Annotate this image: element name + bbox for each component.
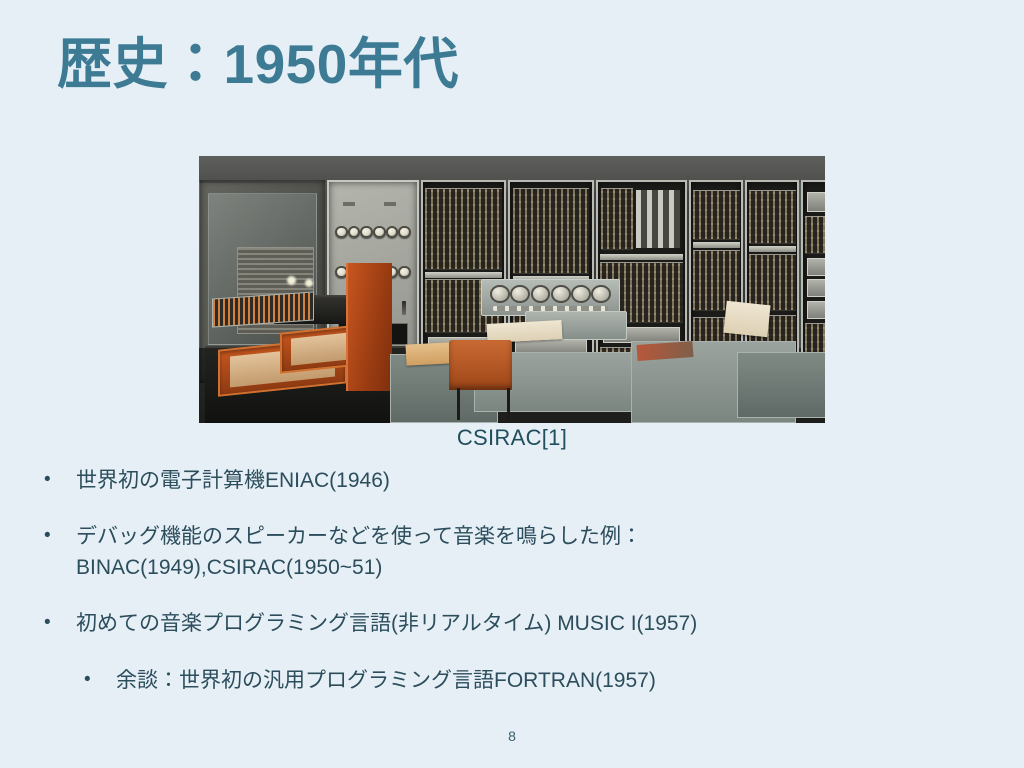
rack-shelf — [693, 242, 740, 248]
rack-blank-plate — [807, 258, 825, 276]
office-chair — [449, 340, 512, 420]
page-number: 8 — [0, 728, 1024, 744]
dial — [373, 226, 386, 239]
rack-blank-plate — [807, 279, 825, 297]
bullet-item-2: • デバッグ機能のスピーカーなどを使って音楽を鳴らした例： BINAC(1949… — [44, 522, 984, 583]
bullet-item-4: • 余談：世界初の汎用プログラミング言語FORTRAN(1957) — [84, 666, 984, 696]
paper-sheet — [723, 301, 770, 337]
valve-rack-section — [749, 190, 796, 244]
console-dial-row — [490, 285, 611, 303]
bullet-item-3: • 初めての音楽プログラミング言語(非リアルタイム) MUSIC I(1957) — [44, 609, 984, 639]
paper-sheet — [487, 320, 563, 343]
dial — [398, 226, 411, 239]
bullet-item-1: • 世界初の電子計算機ENIAC(1946) — [44, 466, 984, 496]
page-title: 歴史：1950年代 — [57, 36, 459, 94]
bullet-marker-icon: • — [44, 609, 76, 637]
rack-shelf — [425, 272, 502, 278]
valve-rack-section — [805, 216, 825, 254]
rack-shelf — [749, 246, 796, 252]
bullet-list: • 世界初の電子計算機ENIAC(1946) • デバッグ機能のスピーカーなどを… — [44, 466, 984, 696]
grey-desk-far-right — [737, 352, 825, 418]
chair-legs — [457, 388, 511, 420]
dial — [348, 226, 361, 239]
dial-row-upper — [335, 226, 410, 239]
valve-rack-section — [693, 190, 740, 240]
console-dial — [490, 285, 510, 303]
valve-rack-section — [749, 254, 796, 312]
toggle-switch — [402, 301, 407, 315]
dial — [386, 226, 399, 239]
chair-back — [449, 340, 512, 390]
valve-rack-section — [425, 188, 502, 270]
bullet-text: デバッグ機能のスピーカーなどを使って音楽を鳴らした例： BINAC(1949),… — [76, 522, 984, 583]
dial — [360, 226, 373, 239]
bullet-marker-icon: • — [84, 666, 116, 694]
rack-shelf — [600, 254, 682, 260]
slide: 歴史：1950年代 — [0, 0, 1024, 768]
photo-csirac — [199, 156, 825, 423]
memory-strip-array — [636, 190, 680, 248]
bullet-text: 余談：世界初の汎用プログラミング言語FORTRAN(1957) — [116, 666, 984, 696]
dial — [335, 226, 348, 239]
valve-rack-section — [513, 188, 590, 274]
rack-blank-plate — [807, 192, 825, 212]
bullet-marker-icon: • — [44, 466, 76, 494]
rack-blank-plate — [807, 301, 825, 319]
bullet-text: 初めての音楽プログラミング言語(非リアルタイム) MUSIC I(1957) — [76, 609, 984, 639]
panel-label — [384, 202, 396, 206]
valve-rack-section — [601, 188, 633, 250]
console-dial — [510, 285, 530, 303]
dial — [398, 266, 411, 279]
console-dial — [551, 285, 571, 303]
panel-label — [343, 202, 355, 206]
figure-caption: CSIRAC[1] — [0, 425, 1024, 451]
wooden-cabinet-column — [346, 263, 392, 391]
console-dial — [571, 285, 591, 303]
console-dial — [531, 285, 551, 303]
console-dial — [591, 285, 611, 303]
bullet-marker-icon: • — [44, 522, 76, 550]
bullet-text: 世界初の電子計算機ENIAC(1946) — [76, 466, 984, 496]
figure-csirac — [199, 156, 825, 423]
